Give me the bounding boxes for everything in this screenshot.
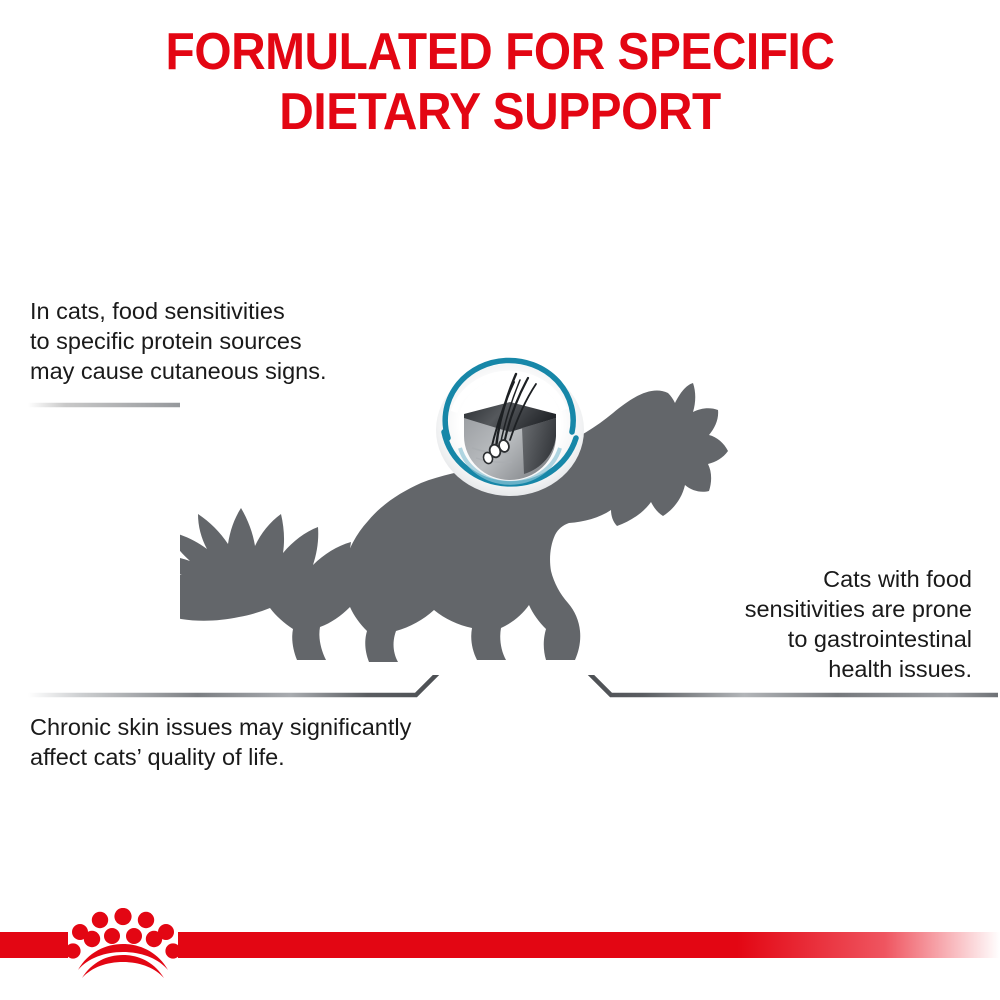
callout-chronic-skin: Chronic skin issues may significantly af… — [30, 712, 550, 772]
callout-skin-line-3: may cause cutaneous signs. — [30, 356, 410, 386]
infographic-page: FORMULATED FOR SPECIFIC DIETARY SUPPORT — [0, 0, 1000, 1000]
royal-canin-crown-logo — [62, 908, 184, 980]
callout-skin-line-1: In cats, food sensitivities — [30, 296, 410, 326]
callout-gastrointestinal: Cats with food sensitivities are prone t… — [672, 564, 972, 684]
skin-cross-section-icon — [424, 352, 596, 514]
callout-gi-line-1: Cats with food — [672, 564, 972, 594]
page-title-line-1: FORMULATED FOR SPECIFIC — [40, 22, 960, 82]
callout-gi-line-4: health issues. — [672, 654, 972, 684]
callout-gi-line-2: sensitivities are prone — [672, 594, 972, 624]
brand-bar-right-segment — [178, 932, 1000, 958]
page-title: FORMULATED FOR SPECIFIC DIETARY SUPPORT — [40, 22, 960, 142]
callout-skin-line-2: to specific protein sources — [30, 326, 410, 356]
callout-chronic-line-1: Chronic skin issues may significantly — [30, 712, 550, 742]
brand-bar-left-segment — [0, 932, 68, 958]
callout-chronic-line-2: affect cats’ quality of life. — [30, 742, 550, 772]
callout-gi-line-3: to gastrointestinal — [672, 624, 972, 654]
callout-skin-sensitivities: In cats, food sensitivities to specific … — [30, 296, 410, 386]
page-title-line-2: DIETARY SUPPORT — [40, 82, 960, 142]
